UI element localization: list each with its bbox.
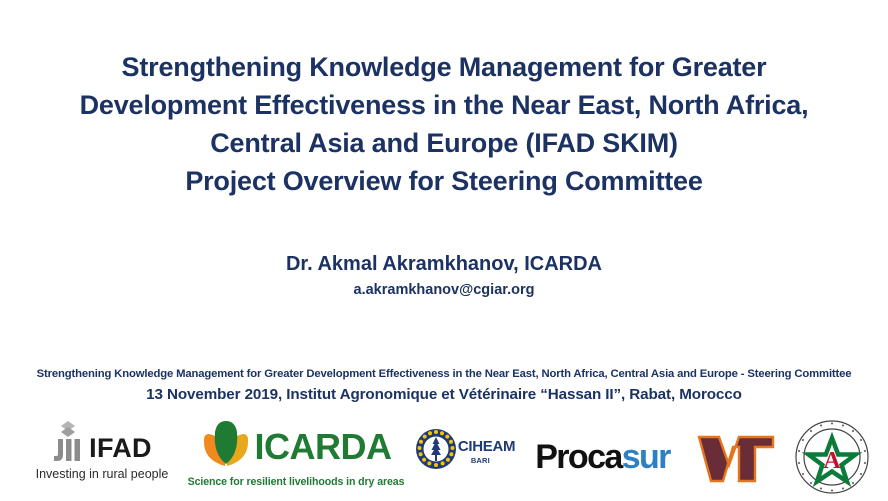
logo-iav-hassan-ii: A xyxy=(784,418,880,501)
icarda-tagline: Science for resilient livelihoods in dry… xyxy=(188,476,405,488)
logo-ifad: IFAD Investing in rural people xyxy=(26,420,178,481)
slide-title: Strengthening Knowledge Management for G… xyxy=(40,48,848,200)
title-line-1: Strengthening Knowledge Management for G… xyxy=(40,48,848,86)
logo-virginia-tech xyxy=(695,434,777,489)
icarda-leaf-icon xyxy=(201,420,251,473)
footer-event-line: Strengthening Knowledge Management for G… xyxy=(10,366,878,382)
ifad-wordmark: IFAD xyxy=(89,435,152,462)
ciheam-sub-label: BARI xyxy=(471,456,490,465)
logo-procasur: Procasur xyxy=(520,440,685,474)
author-name: Dr. Akmal Akramkhanov, ICARDA xyxy=(40,251,848,277)
ciheam-wordmark: CIHEAM xyxy=(458,439,515,454)
logo-ciheam: CIHEAM BARI xyxy=(415,428,515,475)
virginia-tech-vt-icon xyxy=(697,434,775,489)
svg-text:A: A xyxy=(823,448,841,474)
title-line-2: Development Effectiveness in the Near Ea… xyxy=(40,86,848,124)
author-email: a.akramkhanov@cgiar.org xyxy=(40,279,848,301)
author-block: Dr. Akmal Akramkhanov, ICARDA a.akramkha… xyxy=(40,251,848,301)
footer-text-block: Strengthening Knowledge Management for G… xyxy=(10,366,878,406)
procasur-wordmark-part-2: sur xyxy=(622,438,670,476)
procasur-wordmark: Procasur xyxy=(535,440,670,474)
title-line-4: Project Overview for Steering Committee xyxy=(40,162,848,200)
title-line-3: Central Asia and Europe (IFAD SKIM) xyxy=(40,124,848,162)
ifad-mark-icon xyxy=(52,420,84,462)
presentation-slide: Strengthening Knowledge Management for G… xyxy=(0,0,888,500)
icarda-wordmark: ICARDA xyxy=(255,429,392,465)
procasur-wordmark-part-1: Proca xyxy=(535,438,622,476)
ciheam-emblem-icon xyxy=(415,428,457,475)
ifad-tagline: Investing in rural people xyxy=(36,467,169,481)
partner-logo-strip: IFAD Investing in rural people ICARDA Sc… xyxy=(0,414,888,500)
logo-icarda: ICARDA Science for resilient livelihoods… xyxy=(190,420,402,488)
footer-date-venue-line: 13 November 2019, Institut Agronomique e… xyxy=(10,384,878,406)
iav-hassan-ii-seal-icon: A xyxy=(793,418,871,501)
